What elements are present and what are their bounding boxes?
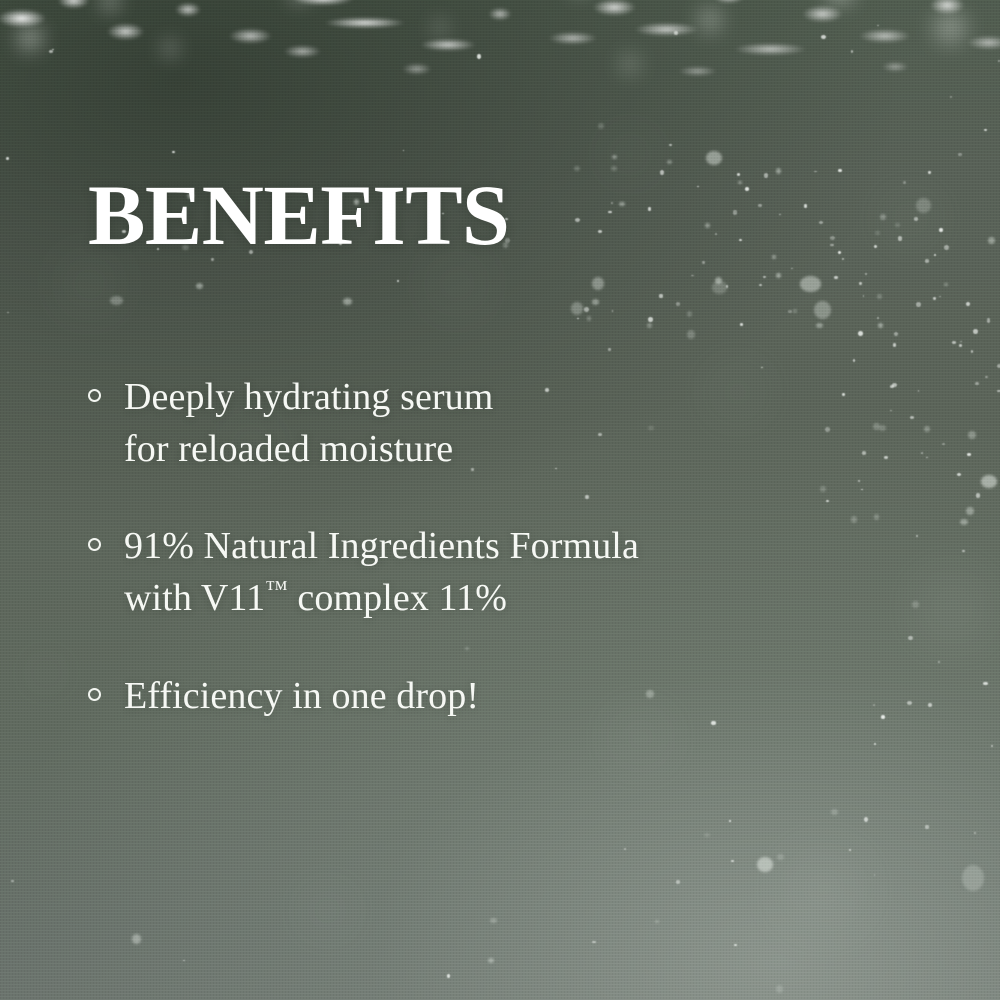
bubble-speck [968,431,976,439]
benefit-item: Deeply hydrating serumfor reloaded moist… [88,372,908,475]
page-title: BENEFITS [88,172,509,258]
bubble-speck [966,302,970,306]
bubble-speck [950,96,952,98]
benefits-slide: BENEFITS Deeply hydrating serumfor reloa… [0,0,1000,1000]
content-column: BENEFITS Deeply hydrating serumfor reloa… [88,0,948,1000]
bubble-speck [991,745,993,747]
bubble-speck [11,880,14,882]
bubble-speck [960,341,962,343]
bubble-speck [49,50,53,53]
bubble-speck [983,682,988,686]
benefit-line: Deeply hydrating serum [124,372,908,424]
benefit-item: 91% Natural Ingredients Formulawith V11™… [88,521,908,624]
bullet-circle-icon [88,389,101,402]
bubble-speck [984,129,987,131]
bubble-speck [973,329,978,334]
bubble-speck [959,344,962,348]
bubble-speck [988,237,995,244]
benefit-line: Efficiency in one drop! [124,671,908,723]
bubble-speck [966,507,974,515]
benefits-list: Deeply hydrating serumfor reloaded moist… [88,372,908,722]
bubble-speck [981,475,997,488]
benefit-line: with V11™ complex 11% [124,573,908,625]
bubble-speck [998,60,1000,62]
benefit-line: for reloaded moisture [124,424,908,476]
bubble-speck [976,493,981,497]
benefit-line: 91% Natural Ingredients Formula [124,521,908,573]
trademark-icon: ™ [265,576,288,601]
bubble-speck [962,865,984,891]
bullet-circle-icon [88,538,101,551]
bubble-speck [975,382,979,385]
bubble-speck [967,453,971,456]
benefit-item: Efficiency in one drop! [88,671,908,723]
bubble-speck [974,832,976,834]
bubble-speck [957,473,962,476]
bubble-speck [952,341,956,345]
bullet-circle-icon [88,688,101,701]
